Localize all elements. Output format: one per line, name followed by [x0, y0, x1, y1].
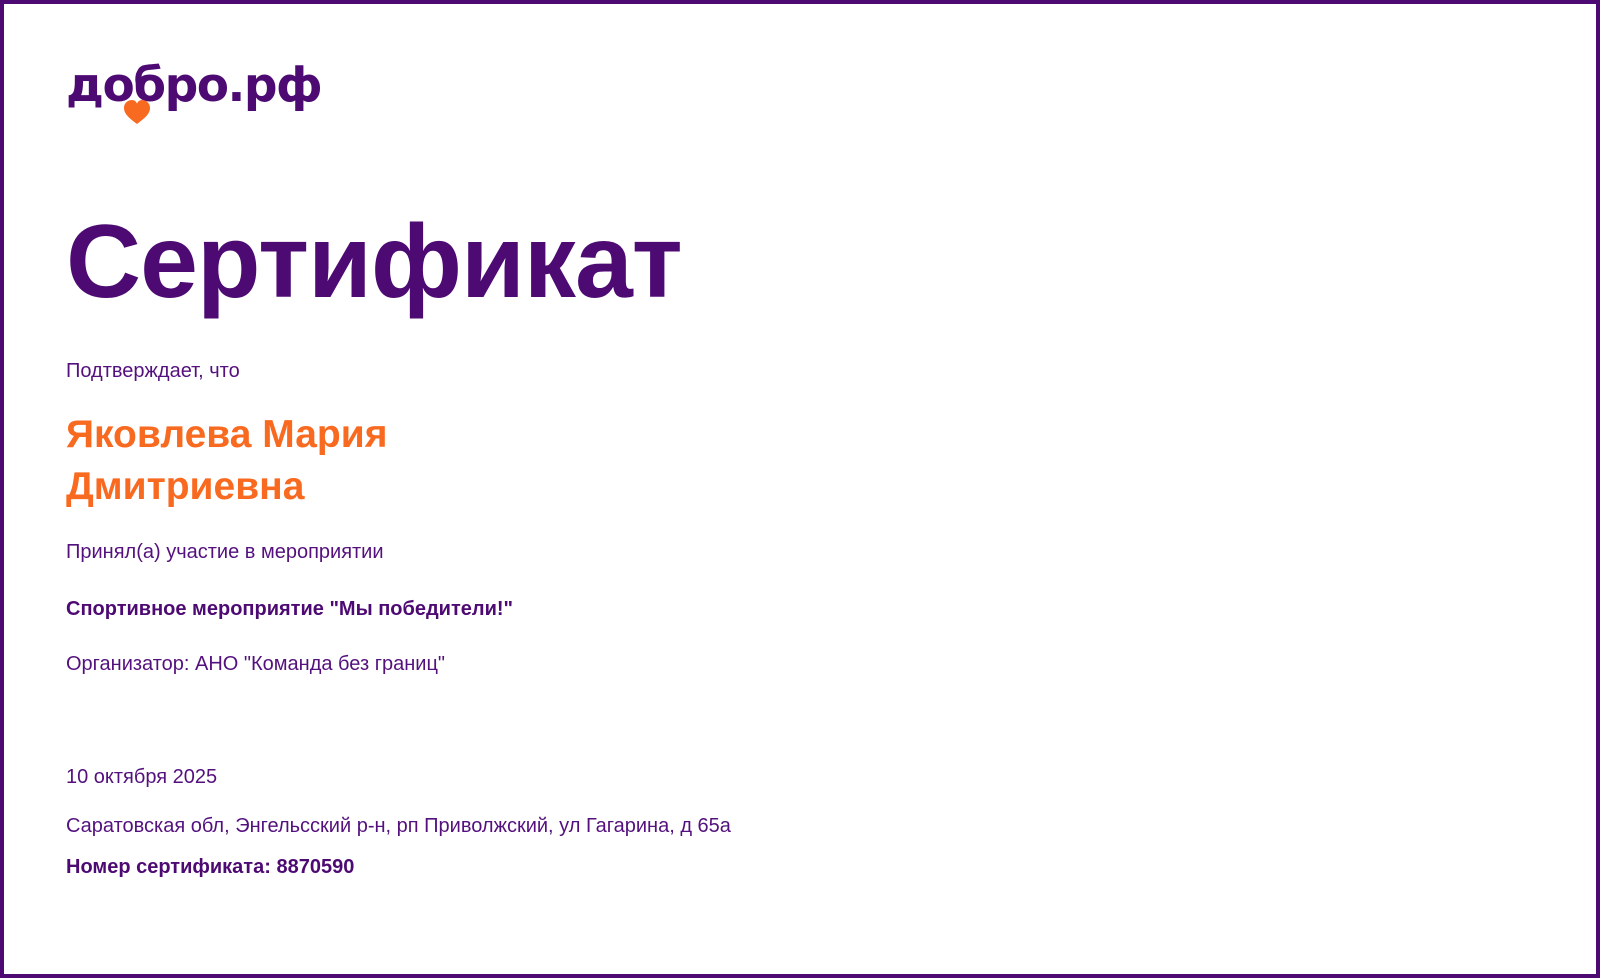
brand-logo-text: добро.рф [66, 56, 321, 116]
organizer-text: Организатор: АНО "Команда без границ" [66, 651, 1532, 678]
heart-icon [122, 99, 152, 125]
certificate-footer: 10 октября 2025 Саратовская обл, Энгельс… [66, 764, 1532, 881]
intro-text: Подтверждает, что [66, 358, 1532, 385]
page-title: Сертификат [66, 204, 1532, 320]
brand-logo: добро.рф [66, 56, 321, 126]
issue-address: Саратовская обл, Энгельсский р-н, рп При… [66, 813, 1532, 840]
certificate-number-value: 8870590 [276, 856, 354, 878]
certificate-number-label: Номер сертификата: [66, 856, 271, 878]
certificate-content: добро.рф Сертификат Подтверждает, что Як… [4, 4, 1596, 974]
certificate-number: Номер сертификата: 8870590 [66, 854, 1532, 881]
certificate-document: добро.рф Сертификат Подтверждает, что Як… [0, 0, 1600, 978]
event-name: Спортивное мероприятие "Мы победители!" [66, 596, 1532, 623]
issue-date: 10 октября 2025 [66, 764, 1532, 791]
participation-text: Принял(а) участие в мероприятии [66, 539, 1532, 566]
recipient-name: Яковлева Мария Дмитриевна [66, 409, 536, 513]
